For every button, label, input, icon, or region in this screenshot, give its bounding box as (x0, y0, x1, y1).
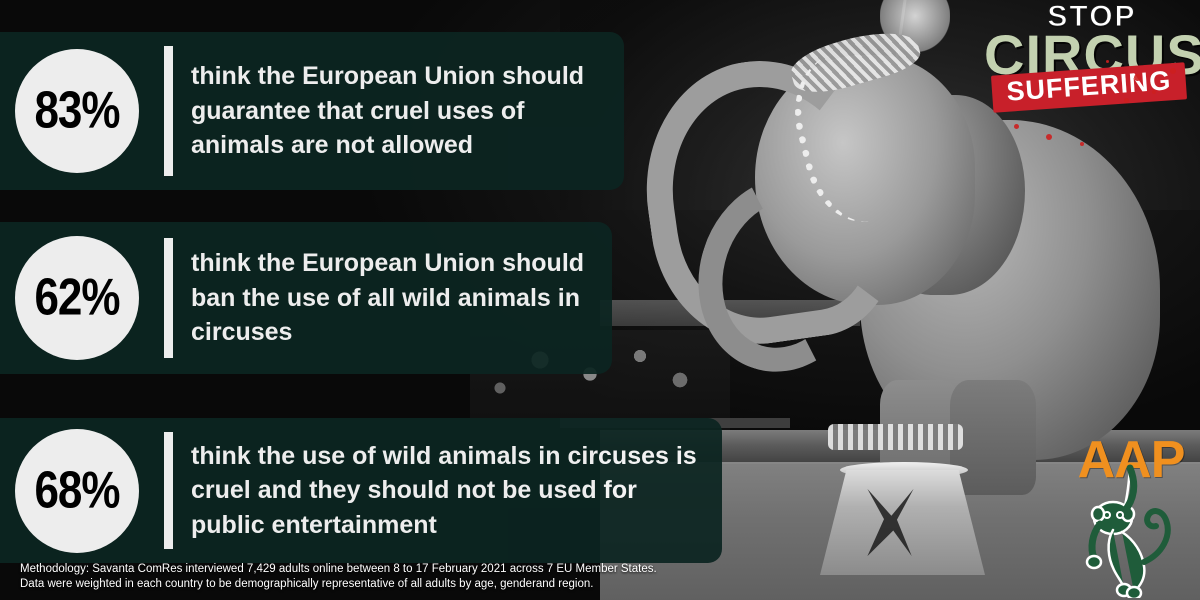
blood-splatter-icon (1080, 142, 1084, 146)
percentage-badge-1: 83% (15, 49, 139, 173)
percentage-badge-3: 68% (15, 429, 139, 553)
campaign-logo: STOP CIRCUS SUFFERING (984, 2, 1194, 152)
statement-text-2: think the European Union should ban the … (191, 246, 612, 350)
blood-splatter-icon (1170, 68, 1176, 74)
statement-text-3: think the use of wild animals in circuse… (191, 439, 722, 543)
stat-panel-1: 83% think the European Union should guar… (0, 32, 624, 190)
blood-splatter-icon (1106, 60, 1109, 63)
percentage-value-1: 83% (34, 82, 119, 141)
statement-text-1: think the European Union should guarante… (191, 59, 624, 163)
stat-panel-2: 62% think the European Union should ban … (0, 222, 612, 374)
divider-bar-3 (164, 432, 173, 549)
stat-panel-3: 68% think the use of wild animals in cir… (0, 418, 722, 563)
methodology-line-1: Methodology: Savanta ComRes interviewed … (20, 562, 1200, 578)
divider-bar-1 (164, 46, 173, 176)
percentage-value-3: 68% (34, 461, 119, 520)
infographic-poster: STOP CIRCUS SUFFERING 83% think the Euro… (0, 0, 1200, 600)
blood-splatter-icon (1152, 90, 1156, 94)
percentage-badge-2: 62% (15, 236, 139, 360)
elephant-anklet (828, 424, 963, 450)
divider-bar-2 (164, 238, 173, 358)
blood-splatter-icon (1134, 74, 1141, 81)
percentage-value-2: 62% (34, 269, 119, 328)
blood-splatter-icon (1046, 134, 1052, 140)
blood-splatter-icon (1124, 98, 1129, 103)
blood-splatter-icon (1014, 124, 1019, 129)
methodology-line-2: Data were weighted in each country to be… (20, 577, 1200, 593)
methodology-footer: Methodology: Savanta ComRes interviewed … (0, 556, 1200, 600)
